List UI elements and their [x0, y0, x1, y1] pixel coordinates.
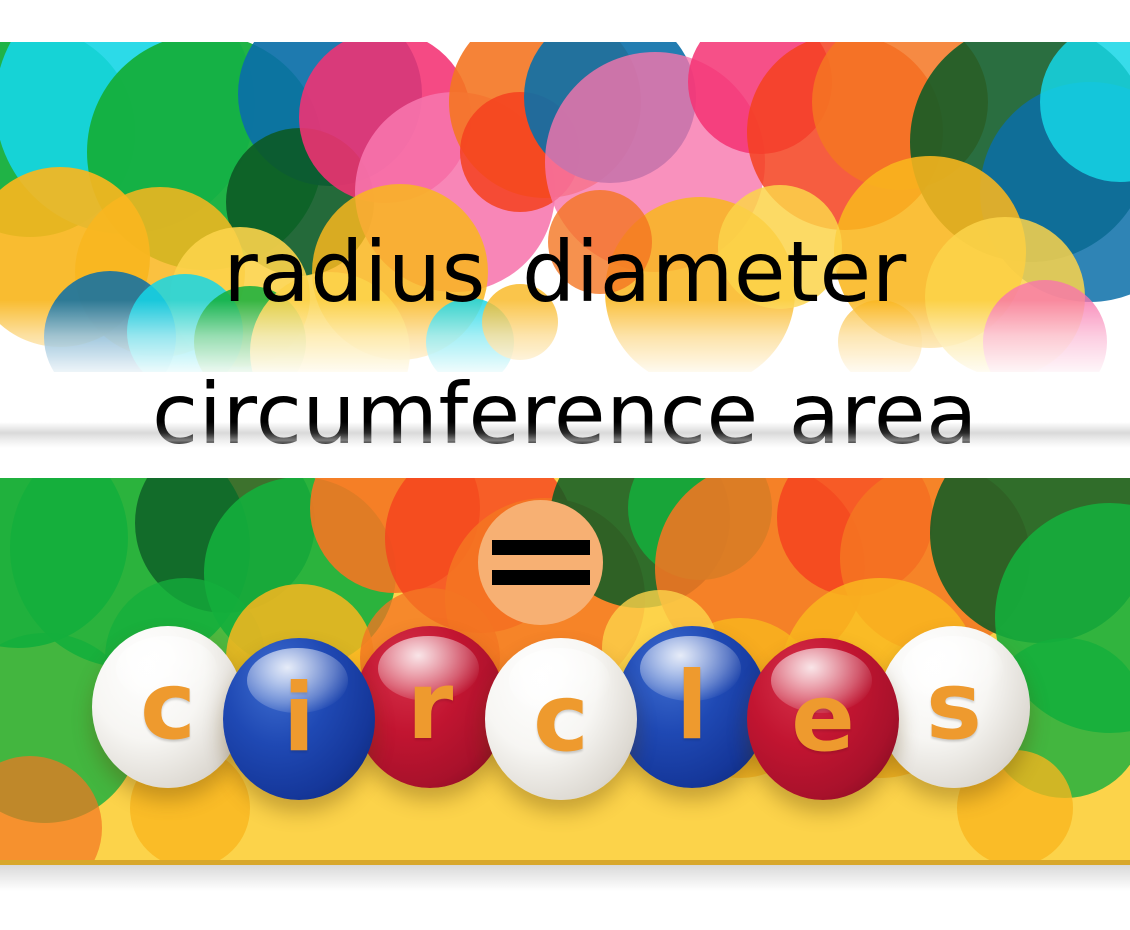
vocab-word-circumference: circumference — [152, 364, 759, 464]
vocabulary-line-one: radiusdiameter — [0, 222, 1130, 322]
ball-letter-glyph: l — [676, 660, 708, 754]
top-decorative-circle-panel — [0, 42, 1130, 372]
ball-letter-glyph: e — [791, 672, 855, 766]
letter-ball-s-6: s — [878, 626, 1030, 788]
circles-title-balls: circles — [0, 626, 1130, 826]
vocab-word-radius: radius — [223, 222, 486, 322]
ball-letter-glyph: r — [407, 660, 453, 754]
ball-letter-glyph: c — [140, 660, 196, 754]
ball-letter-glyph: c — [533, 672, 589, 766]
letter-ball-r-2: r — [354, 626, 506, 788]
letter-ball-i-1: i — [223, 638, 375, 800]
letter-ball-l-4: l — [616, 626, 768, 788]
equals-bar-top — [492, 540, 590, 555]
vocab-word-area: area — [789, 364, 978, 464]
vocabulary-line-two: circumferencearea — [0, 364, 1130, 464]
bottom-drop-shadow — [0, 865, 1130, 891]
letter-ball-c-0: c — [92, 626, 244, 788]
equals-sign-badge — [478, 500, 603, 625]
letter-ball-c-3: c — [485, 638, 637, 800]
ball-letter-glyph: i — [283, 672, 315, 766]
equals-bar-bottom — [492, 570, 590, 585]
letter-ball-e-5: e — [747, 638, 899, 800]
slide-canvas: radiusdiameter circumferencearea circles — [0, 0, 1130, 930]
ball-letter-glyph: s — [926, 660, 982, 754]
vocab-word-diameter: diameter — [522, 222, 907, 322]
